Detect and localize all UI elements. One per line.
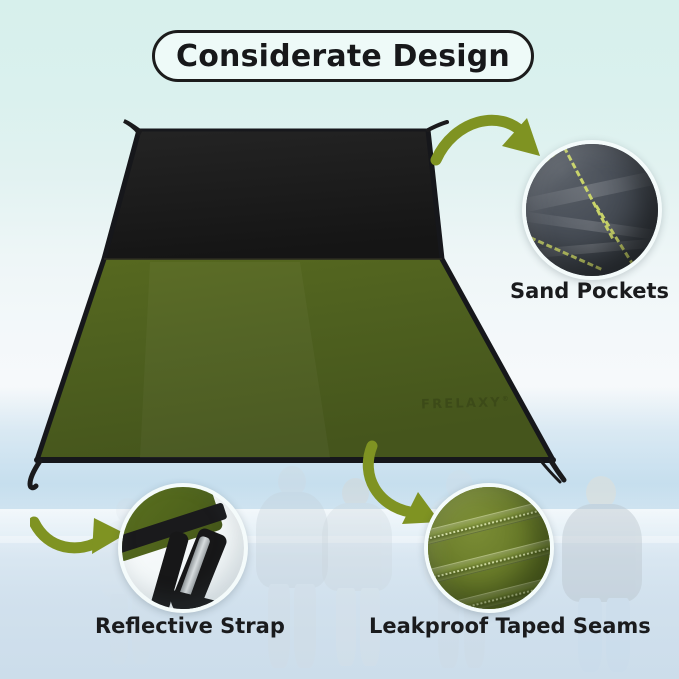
caption-taped-seams: Leakproof Taped Seams [369, 614, 651, 638]
inset-sand-pockets [522, 140, 662, 280]
page-title: Considerate Design [176, 39, 510, 74]
inset-taped-seams [424, 483, 554, 613]
caption-reflective-strap: Reflective Strap [95, 614, 285, 638]
title-banner: Considerate Design [152, 30, 534, 82]
caption-sand-pockets: Sand Pockets [510, 279, 669, 303]
inset-reflective-strap [118, 483, 248, 613]
strap-shadow [122, 487, 244, 609]
background-scene [0, 0, 679, 679]
pocket-shadow [526, 144, 658, 276]
seam-shadow [428, 487, 550, 609]
background-person [556, 476, 648, 672]
